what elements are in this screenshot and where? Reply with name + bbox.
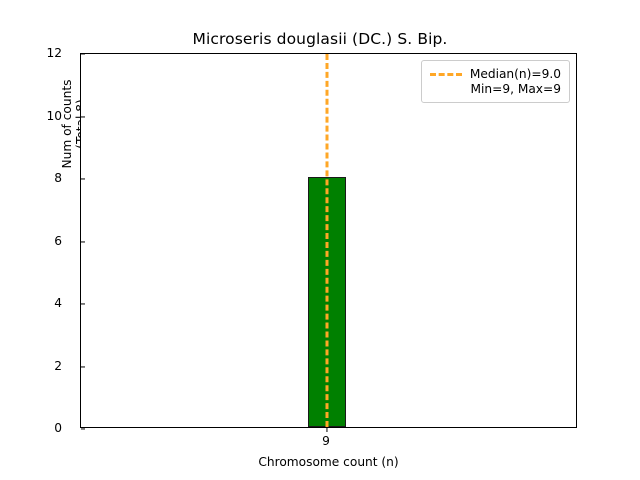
legend-label-median: Median(n)=9.0 [470,67,561,81]
x-axis-label: Chromosome count (n) [80,455,577,469]
y-tick-label: 0 [22,421,62,435]
legend-dashed-line-icon [430,73,462,76]
chart-title: Microseris douglasii (DC.) S. Bip. [0,30,640,48]
y-tick-mark [81,178,85,179]
matplotlib-figure: Microseris douglasii (DC.) S. Bip. Num o… [0,0,640,480]
median-line [326,54,329,427]
x-tick-mark [326,428,327,432]
y-tick-label: 10 [22,109,62,123]
legend-entry-minmax: Min=9, Max=9 [430,82,561,96]
y-tick-label-group: 024681012 [22,53,62,428]
y-tick-mark [81,428,85,429]
y-tick-mark [81,303,85,304]
y-tick-mark [81,116,85,117]
y-tick-mark [81,366,85,367]
y-tick-label: 2 [22,359,62,373]
plot-area: Median(n)=9.0 Min=9, Max=9 [80,53,577,428]
y-tick-label: 4 [22,296,62,310]
legend: Median(n)=9.0 Min=9, Max=9 [421,60,570,103]
y-tick-label: 8 [22,171,62,185]
y-tick-mark [81,241,85,242]
x-tick-label: 9 [322,434,330,448]
y-tick-label: 6 [22,234,62,248]
y-tick-mark [81,53,85,54]
y-tick-label: 12 [22,46,62,60]
legend-label-minmax: Min=9, Max=9 [470,82,561,96]
legend-entry-median: Median(n)=9.0 [430,67,561,81]
y-axis-label-line1: Num of counts [60,80,74,169]
